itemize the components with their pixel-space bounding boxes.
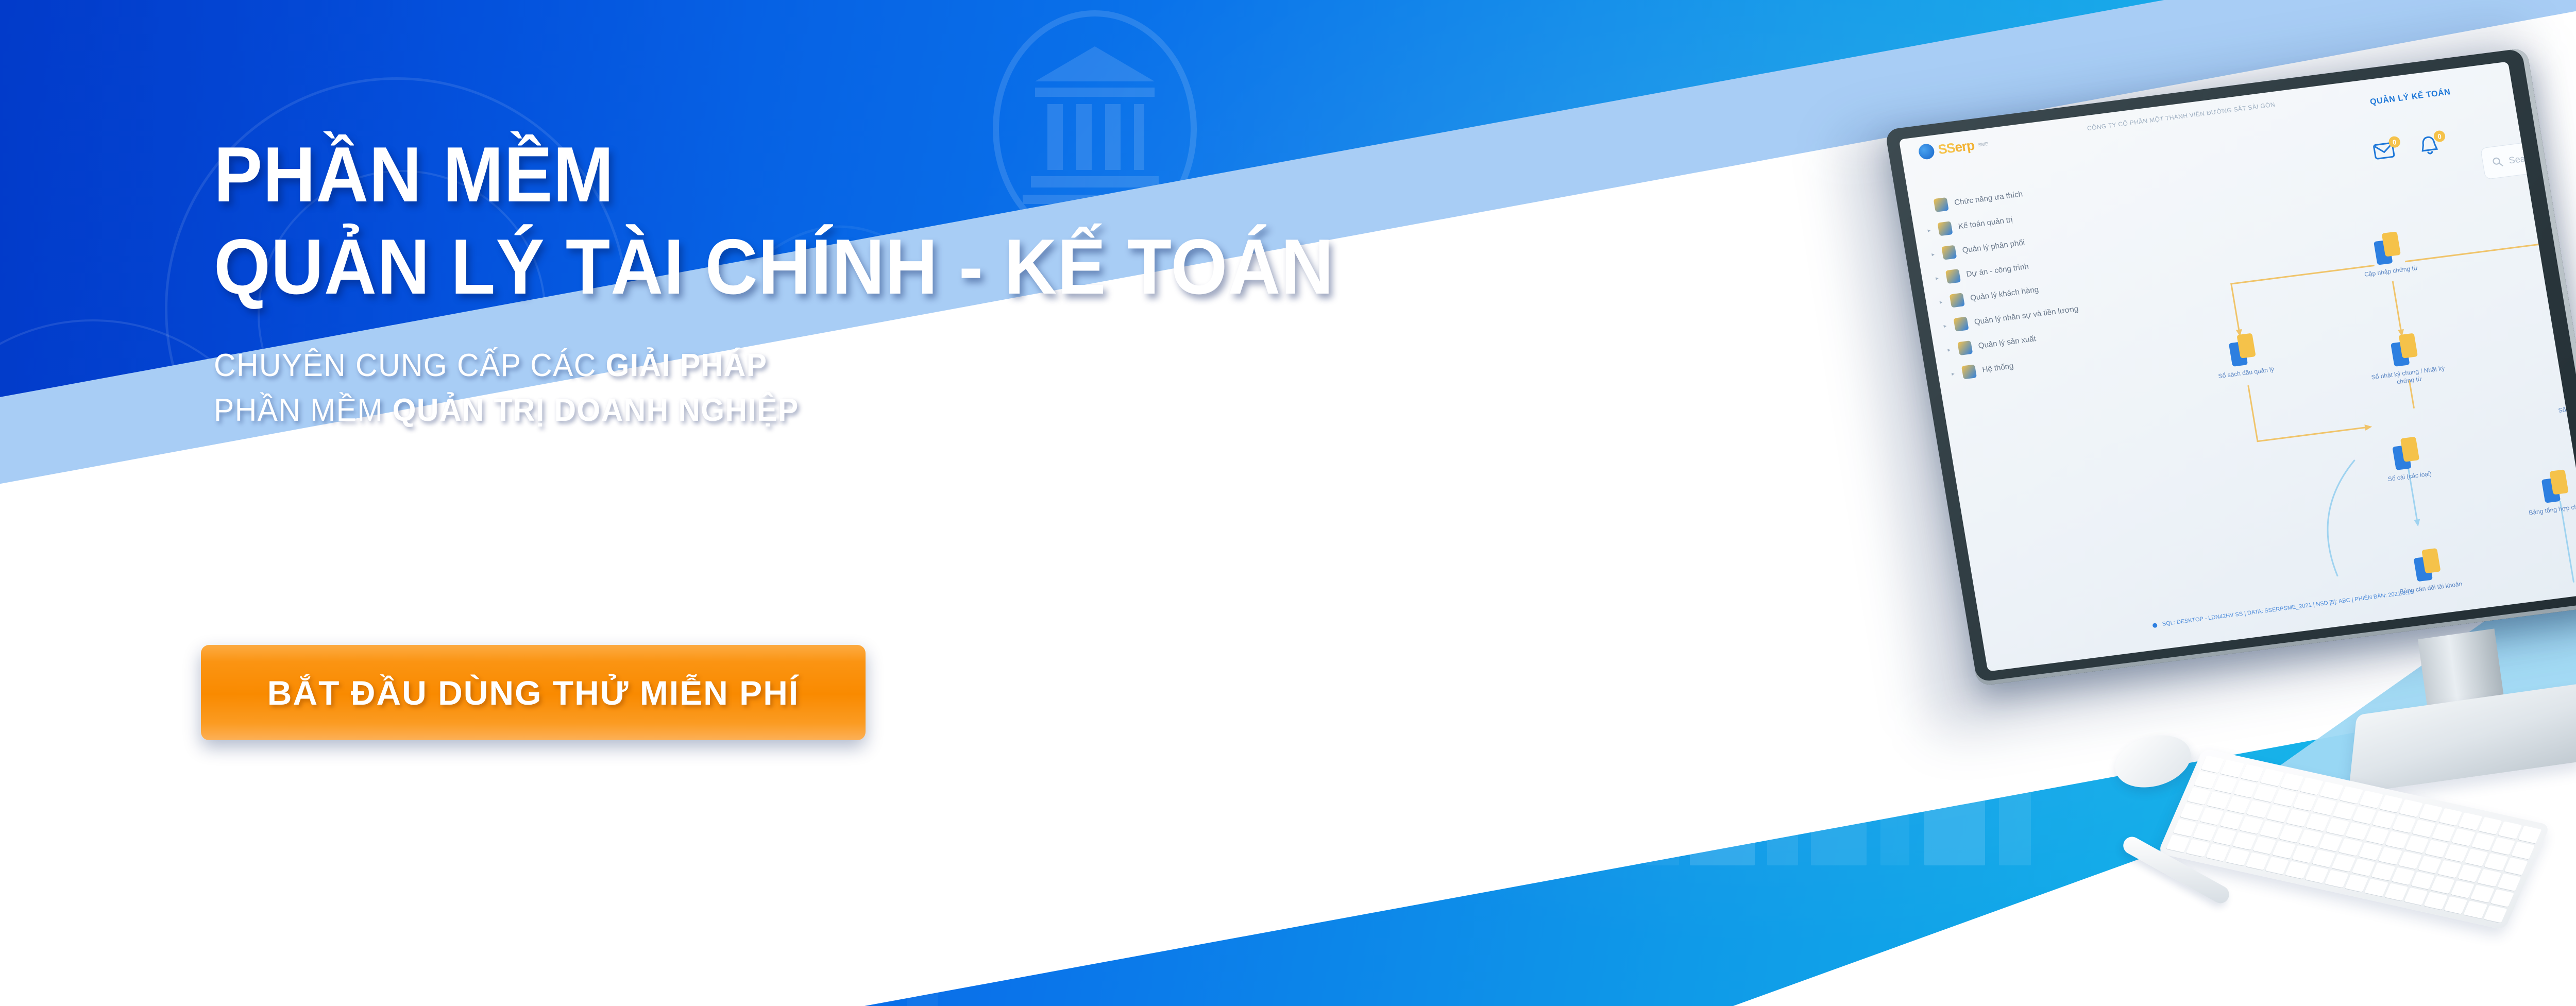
keyboard-key[interactable] (2418, 856, 2442, 874)
keyboard-key[interactable] (2484, 853, 2508, 871)
keyboard-key[interactable] (2425, 840, 2448, 858)
keyboard-key[interactable] (2392, 815, 2416, 833)
keyboard-key[interactable] (2219, 812, 2243, 830)
keyboard-key[interactable] (2227, 796, 2250, 814)
keyboard-key[interactable] (2319, 834, 2343, 852)
free-trial-button[interactable]: BẮT ĐẦU DÙNG THỬ MIỄN PHÍ (201, 645, 866, 740)
keyboard-key[interactable] (2193, 823, 2216, 841)
logo-text: SSerp (1937, 138, 1975, 158)
keyboard-key[interactable] (2200, 807, 2224, 825)
flow-node-icon (2570, 367, 2576, 400)
keyboard-key[interactable] (2483, 905, 2507, 923)
keyboard-key[interactable] (2346, 822, 2369, 840)
keyboard-key[interactable] (2518, 826, 2541, 844)
keyboard-key[interactable] (2412, 820, 2435, 838)
keyboard-key[interactable] (2221, 760, 2244, 778)
keyboard-key[interactable] (2293, 793, 2316, 811)
search-placeholder: Search for (2508, 150, 2552, 166)
keyboard-key[interactable] (2404, 888, 2428, 906)
keyboard-key[interactable] (2240, 764, 2264, 782)
keyboard-key[interactable] (2213, 828, 2236, 846)
keyboard-key[interactable] (2385, 831, 2409, 849)
status-dot-icon (2152, 623, 2157, 628)
keyboard-key[interactable] (2194, 771, 2217, 789)
keyboard-key[interactable] (2201, 755, 2225, 773)
search-input[interactable]: Search for (2480, 123, 2576, 180)
keyboard-key[interactable] (2340, 786, 2363, 804)
subtitle-line-1: CHUYÊN CUNG CẤP CÁC GIẢI PHÁP (214, 344, 1486, 388)
keyboard-key[interactable] (2405, 836, 2429, 854)
keyboard-key[interactable] (2166, 834, 2190, 852)
flow-node-icon (2391, 437, 2421, 470)
keyboard-key[interactable] (2259, 821, 2283, 839)
monitor-screen[interactable]: SSerp SME CÔNG TY CỔ PHẦN MỘT THÀNH VIÊN… (1899, 62, 2576, 672)
keyboard-key[interactable] (2279, 825, 2303, 843)
keyboard-key[interactable] (2504, 857, 2528, 875)
sidebar-item-label: Chức năng ưa thích (1954, 190, 2023, 207)
keyboard-key[interactable] (2384, 883, 2408, 901)
page-title: PHẦN MỀM QUẢN LÝ TÀI CHÍNH - KẾ TOÁN (214, 129, 1460, 314)
keyboard-key[interactable] (2378, 847, 2402, 865)
keyboard-key[interactable] (2371, 863, 2395, 881)
keyboard-key[interactable] (2325, 870, 2348, 888)
mail-icon[interactable]: 0 (2372, 139, 2399, 162)
keyboard-key[interactable] (2365, 827, 2389, 845)
keyboard-key[interactable] (2299, 829, 2323, 847)
keyboard-key[interactable] (2232, 832, 2256, 850)
logo-text-ss: SS (1937, 140, 1956, 157)
notification-row: 0 0 (2372, 133, 2444, 162)
keyboard-key[interactable] (2300, 777, 2324, 795)
keyboard-key[interactable] (2451, 880, 2475, 898)
keyboard-key[interactable] (2246, 800, 2270, 819)
subtitle-line-1-bold: GIẢI PHÁP (606, 348, 768, 383)
sidebar-item-label: Quản lý khách hàng (1970, 285, 2039, 303)
keyboard-key[interactable] (2359, 791, 2383, 809)
keyboard-key[interactable] (2345, 874, 2368, 892)
keyboard-key[interactable] (2497, 873, 2521, 891)
keyboard-key[interactable] (2364, 879, 2388, 897)
keyboard-key[interactable] (2252, 837, 2276, 855)
keyboard-key[interactable] (2187, 787, 2211, 805)
keyboard-key[interactable] (2266, 805, 2290, 823)
flow-node-icon (2412, 548, 2442, 582)
keyboard-key[interactable] (2372, 811, 2396, 829)
sidebar-item-icon (1953, 316, 1969, 331)
monitor-body: SSerp SME CÔNG TY CỔ PHẦN MỘT THÀNH VIÊN… (1885, 48, 2576, 687)
chevron-right-icon: ▸ (1947, 346, 1952, 353)
hero-copy: PHẦN MỀM QUẢN LÝ TÀI CHÍNH - KẾ TOÁN CHU… (214, 129, 1553, 433)
keyboard-key[interactable] (2326, 818, 2349, 836)
sidebar-item-icon (1945, 269, 1961, 284)
keyboard-key[interactable] (2511, 842, 2535, 860)
chevron-right-icon: ▸ (1951, 370, 1956, 377)
sidebar-item-label: Hệ thống (1981, 362, 2014, 374)
sidebar-item-label: Kế toán quản trị (1958, 215, 2013, 231)
accounting-flow-diagram: Cập nhập chứng từ Sổ sách đầu quản lý Sổ… (2165, 203, 2576, 647)
keyboard-key[interactable] (2173, 819, 2197, 837)
sidebar-item-icon (1937, 221, 1953, 236)
keyboard-key[interactable] (2424, 892, 2448, 910)
keyboard-key[interactable] (2419, 804, 2443, 822)
desk-scene: SSerp SME CÔNG TY CỔ PHẦN MỘT THÀNH VIÊN… (1836, 0, 2576, 1006)
keyboard-key[interactable] (2438, 860, 2462, 878)
erp-dashboard: SSerp SME CÔNG TY CỔ PHẦN MỘT THÀNH VIÊN… (1899, 62, 2576, 672)
keyboard-key[interactable] (2332, 802, 2356, 820)
flow-node-icon (2540, 469, 2570, 503)
sidebar-item-icon (1957, 340, 1973, 355)
keyboard-key[interactable] (2265, 857, 2289, 875)
keyboard-key[interactable] (2445, 844, 2468, 862)
logo-sub: SME (1978, 141, 1989, 147)
keyboard-key[interactable] (2305, 865, 2329, 883)
keyboard-key[interactable] (2226, 848, 2249, 866)
chevron-right-icon: ▸ (1927, 227, 1933, 234)
keyboard-key[interactable] (2459, 812, 2482, 830)
flow-node-icon (2372, 231, 2402, 265)
keyboard-key[interactable] (2332, 854, 2355, 872)
keyboard-key[interactable] (2351, 858, 2375, 876)
headline-line-1: PHẦN MỀM (214, 129, 1460, 221)
keyboard-key[interactable] (2319, 781, 2343, 799)
subtitle-line-2-normal: PHẦN MỀM (214, 393, 393, 428)
keyboard-key[interactable] (2458, 864, 2481, 882)
keyboard-key[interactable] (2391, 867, 2415, 885)
bell-icon[interactable]: 0 (2417, 133, 2444, 157)
keyboard-key[interactable] (2233, 780, 2257, 798)
keyboard-key[interactable] (2206, 844, 2229, 862)
subtitle-line-2: PHẦN MỀM QUẢN TRỊ DOANH NGHIỆP (214, 388, 1486, 433)
subtitle-line-1-normal: CHUYÊN CUNG CẤP CÁC (214, 348, 606, 383)
keyboard-key[interactable] (2491, 837, 2515, 855)
keyboard-key[interactable] (2280, 773, 2303, 791)
keyboard-key[interactable] (2398, 851, 2422, 869)
chevron-right-icon: ▸ (1943, 322, 1948, 330)
keyboard-key[interactable] (2180, 803, 2204, 821)
logo-mark-icon (1918, 143, 1936, 160)
keyboard-key[interactable] (2260, 769, 2284, 787)
keyboard-key[interactable] (2464, 848, 2488, 866)
keyboard-key[interactable] (2253, 785, 2277, 803)
chevron-right-icon: ▸ (1939, 298, 1944, 305)
sidebar-item-label: Quản lý sản xuất (1978, 334, 2037, 350)
keyboard-key[interactable] (2306, 813, 2330, 831)
headline-line-2: QUẢN LÝ TÀI CHÍNH - KẾ TOÁN (214, 221, 1460, 313)
sidebar-item-icon (1950, 293, 1965, 308)
keyboard-key[interactable] (2379, 795, 2403, 813)
keyboard-key[interactable] (2359, 843, 2382, 861)
chevron-right-icon: ▸ (1935, 275, 1940, 282)
flow-node-icon (2227, 333, 2257, 367)
keyboard-key[interactable] (2272, 841, 2296, 859)
keyboard-key[interactable] (2312, 849, 2335, 867)
keyboard-key[interactable] (2411, 872, 2435, 890)
keyboard-key[interactable] (2285, 861, 2309, 879)
keyboard-key[interactable] (2451, 828, 2475, 846)
keyboard-key[interactable] (2478, 817, 2502, 835)
sidebar-item-label: Quản lý phân phối (1962, 238, 2026, 254)
keyboard-key[interactable] (2338, 838, 2362, 856)
keyboard-key[interactable] (2313, 797, 2336, 815)
keyboard-key[interactable] (2464, 900, 2487, 918)
keyboard-key[interactable] (2240, 816, 2263, 834)
subtitle-line-2-bold: QUẢN TRỊ DOANH NGHIỆP (393, 393, 799, 428)
sidebar-item-icon (1941, 245, 1957, 260)
keyboard-key[interactable] (2498, 821, 2522, 839)
mouse[interactable] (2109, 727, 2197, 796)
sidebar-item-icon (1961, 364, 1977, 379)
keyboard-key[interactable] (2471, 833, 2495, 851)
keyboard-key[interactable] (2438, 808, 2462, 826)
keyboard-key[interactable] (2245, 852, 2269, 871)
keyboard-key[interactable] (2352, 806, 2376, 824)
sidebar-item-label: Dự án - công trình (1965, 262, 2029, 279)
flow-node-icon (2389, 333, 2419, 367)
sidebar[interactable]: Chức năng ưa thích▸ Kế toán quản trị▸ Qu… (1922, 173, 2123, 386)
chevron-right-icon: ▸ (1931, 251, 1936, 258)
keyboard-key[interactable] (2477, 869, 2501, 887)
search-icon (2492, 156, 2503, 167)
flow-node-label: Sổ, thẻ kế toán chi tiết (2550, 398, 2576, 416)
keyboard-key[interactable] (2431, 876, 2454, 894)
sidebar-item-icon (1934, 197, 1949, 212)
chevron-right-icon (1924, 206, 1928, 207)
keyboard-key[interactable] (2292, 845, 2316, 863)
keyboard-key[interactable] (2490, 889, 2514, 907)
keyboard-key[interactable] (2186, 839, 2210, 857)
flow-node-2[interactable]: Sổ nhật ký chung / Nhật ký chứng từ (2363, 330, 2448, 389)
logo-text-erp: erp (1954, 138, 1975, 155)
keyboard-key[interactable] (2399, 799, 2422, 817)
keyboard-key[interactable] (2207, 791, 2230, 809)
keyboard-key[interactable] (2273, 789, 2297, 807)
keyboard-key[interactable] (2470, 885, 2494, 903)
keyboard-key[interactable] (2214, 776, 2238, 794)
keyboard-key[interactable] (2286, 809, 2310, 827)
hero-subtitle: CHUYÊN CUNG CẤP CÁC GIẢI PHÁP PHẦN MỀM Q… (214, 344, 1486, 433)
keyboard-key[interactable] (2444, 896, 2467, 914)
hero-banner: PHẦN MỀM QUẢN LÝ TÀI CHÍNH - KẾ TOÁN CHU… (0, 0, 2576, 1006)
keyboard-key[interactable] (2432, 824, 2455, 842)
